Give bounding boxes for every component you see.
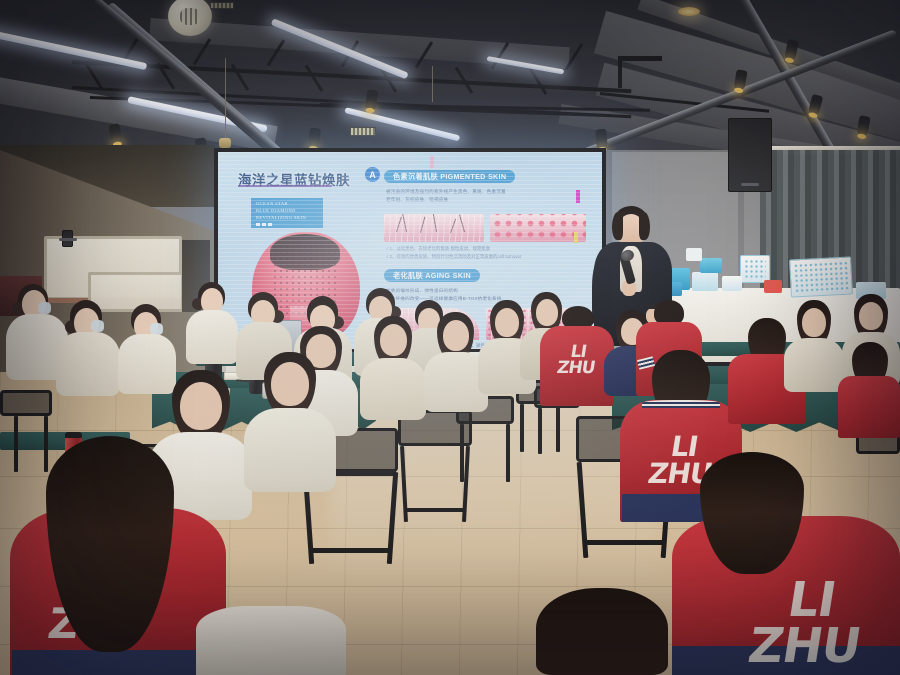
attendee-head [380,324,407,356]
attendee [244,352,336,492]
attendee-top [244,408,336,492]
track-spotlight [108,123,122,145]
ceiling-downlight [678,7,700,16]
seminar-photo: 海洋之星蓝钻焕肤 A OCEAN STAR BLUE DIAMOND REVIT… [0,0,900,675]
attendee-top [196,606,346,675]
face-mask [91,320,104,332]
jacket-collar-stripe [642,400,720,408]
english-line-2: BLUE DIAMOND [256,208,318,215]
english-line-1: OCEAN STAR [256,201,318,208]
pigmented-body-2: 老年斑、灰棕皮肤、暗褐皮肤 [386,196,448,204]
attendee-top [56,332,120,396]
product-box [692,272,718,291]
attendee-red-jacket: LI ZHU [540,306,614,406]
pigmented-check-1: √ 1、淡化黑色、去除老化的角质-脱粒皮试、规矩肌肤 [386,245,490,252]
attendee [360,316,426,420]
attendee-head [802,308,826,337]
slide-title-underline [238,185,332,187]
derm-diagram-hair [384,214,484,242]
slide-accent-yellow [574,232,578,243]
product-box [764,280,782,293]
led-tube-light [344,107,460,141]
jacket-logo: LI ZHU [551,344,602,376]
jacket-logo: LI ZHU [731,578,885,669]
product-box [700,258,722,273]
red-jacket-body [838,376,900,438]
ceiling-vent [210,2,234,9]
attendee [196,606,346,675]
projector-mount [618,56,662,61]
attendee [56,300,120,396]
english-line-3: REVITALIZING SKIN [256,215,318,222]
attendee-top [784,338,844,392]
product-box [686,248,702,261]
product-display-stand [789,256,853,297]
attendee-red-jacket: LI ZHU [672,470,900,675]
derm-diagram-pigment [490,214,586,242]
track-spotlight [308,127,321,148]
attendee [186,282,238,364]
track-spotlight [595,129,607,150]
attendee-head [859,302,883,330]
presenter-hair-side [639,212,650,240]
english-dots [256,223,318,226]
wall-speaker [62,230,73,247]
attendee-head [495,308,519,337]
hanging-wire [225,58,226,140]
pigmented-check-2: √ 2、有效的改善皮质、特别针对色沉消除及对正常皮肤的cell turnover [386,253,521,260]
hanging-lamp [219,138,231,148]
ceiling-vent [350,127,376,136]
section-pill-pigmented: 色素沉着肌肤 PIGMENTED SKIN [384,170,515,183]
attendee-red-jacket [838,342,900,438]
slide-accent-magenta [576,190,580,203]
slide-badge: A [365,167,380,182]
attendee [784,300,844,392]
attendee-head [271,362,309,406]
product-box [722,276,742,291]
slide-english-block: OCEAN STAR BLUE DIAMOND REVITALIZING SKI… [251,198,323,228]
section-pill-aging: 老化肌肤 AGING SKIN [384,269,480,282]
attendee-hair [536,588,668,675]
attendee-top [360,358,426,420]
attendee-top [186,310,238,364]
attendee [536,588,668,675]
slide-accent-pink [430,156,434,168]
presenter-hair-side [612,212,623,240]
pigmented-body-1: 被污染的环境及强烈的紫外线产生黑色、黄斑、色素沉着 [386,188,506,196]
face-mask [38,302,51,314]
attendee-head [443,320,469,351]
product-display-stand [740,255,770,283]
pa-speaker [728,118,772,192]
attendee-head [180,382,222,430]
led-tube-light [0,30,147,70]
jacket-hem-band [12,650,224,675]
